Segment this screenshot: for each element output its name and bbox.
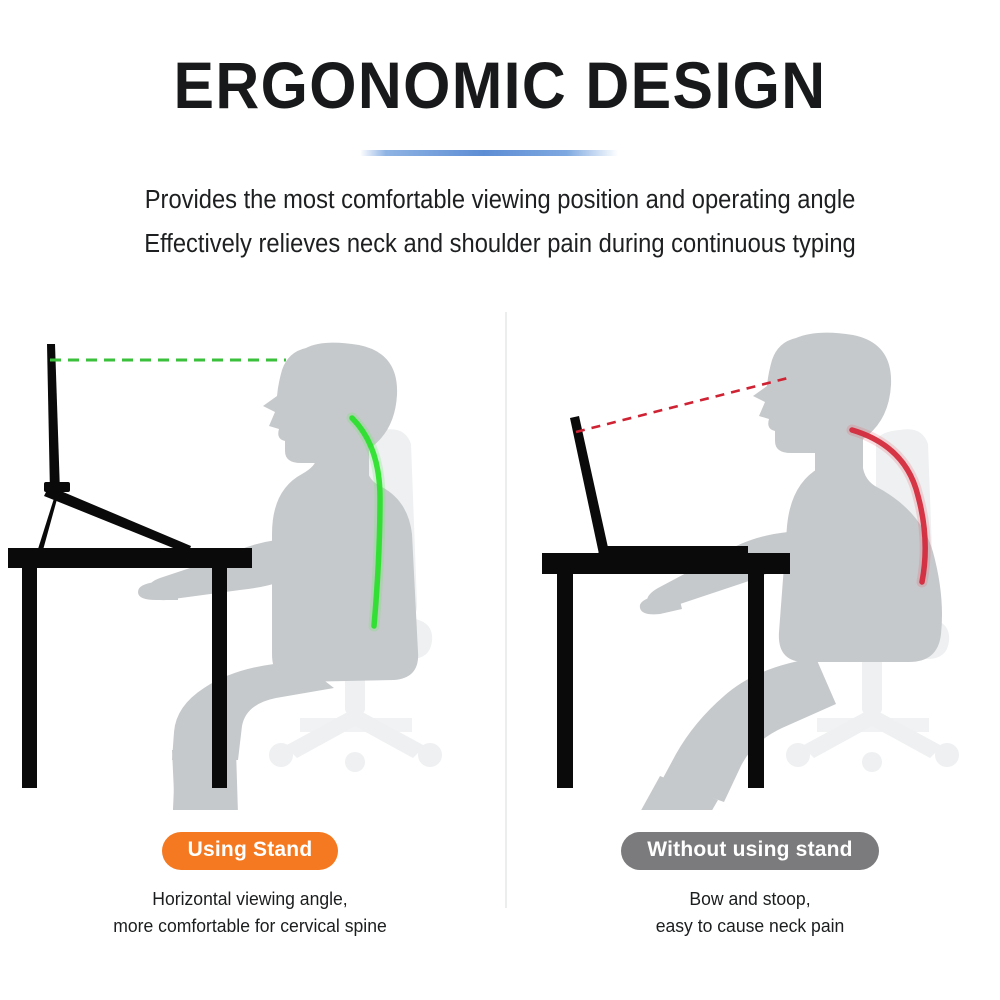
label-block-without-stand: Without using stand Bow and stoop, easy … bbox=[500, 832, 1000, 940]
title-underline bbox=[360, 150, 618, 156]
subtitle-line-2: Effectively relieves neck and shoulder p… bbox=[35, 230, 965, 259]
badge-using-stand[interactable]: Using Stand bbox=[162, 832, 339, 870]
laptop-flat-icon bbox=[570, 416, 748, 555]
badge-without-stand[interactable]: Without using stand bbox=[621, 832, 878, 870]
illustration-without-stand bbox=[500, 310, 1000, 810]
caption-line-2: easy to cause neck pain bbox=[513, 913, 988, 940]
sightline-downward-red bbox=[576, 378, 788, 432]
panel-using-stand: Using Stand Horizontal viewing angle, mo… bbox=[0, 310, 500, 940]
caption-using-stand: Horizontal viewing angle, more comfortab… bbox=[13, 886, 488, 940]
laptop-elevated-icon bbox=[38, 344, 191, 554]
caption-without-stand: Bow and stoop, easy to cause neck pain bbox=[513, 886, 988, 940]
panel-without-stand: Without using stand Bow and stoop, easy … bbox=[500, 310, 1000, 940]
desk-icon bbox=[8, 548, 252, 788]
subtitle-line-1: Provides the most comfortable viewing po… bbox=[35, 186, 965, 215]
infographic-page: ERGONOMIC DESIGN Provides the most comfo… bbox=[0, 0, 1000, 1000]
illustration-using-stand bbox=[0, 310, 500, 810]
page-title: ERGONOMIC DESIGN bbox=[40, 0, 960, 118]
caption-line-1: Horizontal viewing angle, bbox=[13, 886, 488, 913]
caption-line-2: more comfortable for cervical spine bbox=[13, 913, 488, 940]
header: ERGONOMIC DESIGN bbox=[0, 0, 1000, 118]
label-block-using-stand: Using Stand Horizontal viewing angle, mo… bbox=[0, 832, 500, 940]
caption-line-1: Bow and stoop, bbox=[513, 886, 988, 913]
